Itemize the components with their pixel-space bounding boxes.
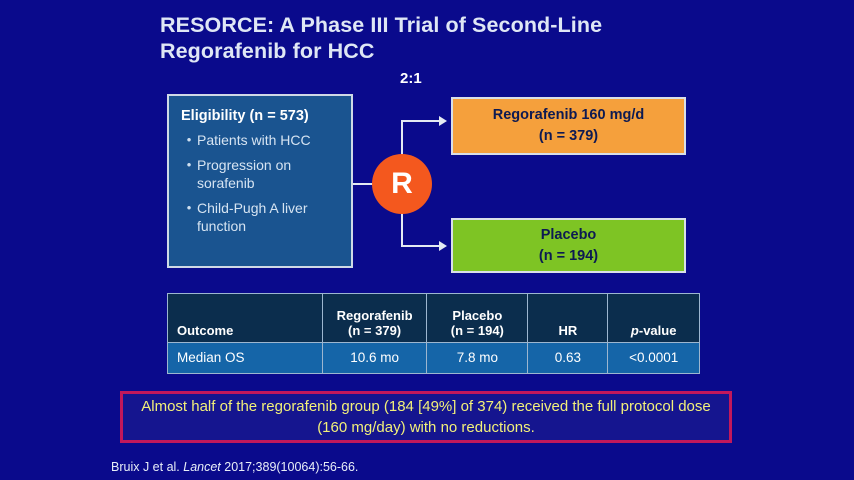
- table-header-outcome-line1: Outcome: [177, 323, 322, 338]
- bullet-icon: •: [181, 156, 197, 193]
- table-cell-placebo: 7.8 mo: [427, 343, 528, 374]
- randomization-circle: R: [372, 154, 432, 214]
- eligibility-box: Eligibility (n = 573) • Patients with HC…: [167, 94, 353, 268]
- table-header-row: Outcome Regorafenib (n = 379) Placebo (n…: [168, 294, 700, 343]
- eligibility-item: • Child-Pugh A liver function: [181, 199, 342, 236]
- table-header-outcome: Outcome: [168, 294, 323, 343]
- table-header-placebo-line2: (n = 194): [427, 323, 527, 338]
- callout-text: Almost half of the regorafenib group (18…: [133, 396, 719, 438]
- table-header-pvalue: p-value: [608, 294, 700, 343]
- placebo-arm-line2: (n = 194): [539, 246, 598, 267]
- citation-journal: Lancet: [183, 460, 221, 474]
- eligibility-item-label: Progression on sorafenib: [197, 156, 342, 193]
- table-cell-hr: 0.63: [528, 343, 608, 374]
- arrowhead-treatment-icon: [439, 116, 447, 126]
- eligibility-item: • Progression on sorafenib: [181, 156, 342, 193]
- treatment-arm-box: Regorafenib 160 mg/d (n = 379): [451, 97, 686, 155]
- table-header-pvalue-wrapper: p-value: [608, 323, 699, 338]
- citation-prefix: Bruix J et al.: [111, 460, 183, 474]
- slide-title: RESORCE: A Phase III Trial of Second-Lin…: [160, 12, 720, 64]
- placebo-arm-line1: Placebo: [541, 225, 597, 246]
- table-cell-outcome: Median OS: [168, 343, 323, 374]
- bullet-icon: •: [181, 199, 197, 236]
- table-header-hr: HR: [528, 294, 608, 343]
- table-header-regorafenib-line2: (n = 379): [323, 323, 426, 338]
- connector-line-to-placebo: [401, 245, 439, 247]
- table-header-regorafenib-line1: Regorafenib: [323, 308, 426, 323]
- eligibility-item-label: Patients with HCC: [197, 131, 342, 150]
- treatment-arm-line1: Regorafenib 160 mg/d: [493, 105, 644, 126]
- table-header-pvalue-rest: -value: [639, 323, 677, 338]
- highlight-callout-box: Almost half of the regorafenib group (18…: [120, 391, 732, 443]
- arrowhead-placebo-icon: [439, 241, 447, 251]
- results-table: Outcome Regorafenib (n = 379) Placebo (n…: [167, 293, 700, 374]
- connector-line-to-treatment: [401, 120, 439, 122]
- table-cell-regorafenib: 10.6 mo: [322, 343, 426, 374]
- citation-suffix: 2017;389(10064):56-66.: [221, 460, 359, 474]
- table-header-regorafenib: Regorafenib (n = 379): [322, 294, 426, 343]
- table-header-pvalue-italic: p: [631, 323, 639, 338]
- table-cell-pvalue: <0.0001: [608, 343, 700, 374]
- placebo-arm-box: Placebo (n = 194): [451, 218, 686, 273]
- table-header-placebo-line1: Placebo: [427, 308, 527, 323]
- slide-canvas: RESORCE: A Phase III Trial of Second-Lin…: [0, 0, 854, 480]
- table-row: Median OS 10.6 mo 7.8 mo 0.63 <0.0001: [168, 343, 700, 374]
- treatment-arm-line2: (n = 379): [539, 126, 598, 147]
- eligibility-item: • Patients with HCC: [181, 131, 342, 150]
- table-header-placebo: Placebo (n = 194): [427, 294, 528, 343]
- randomization-ratio-label: 2:1: [400, 70, 422, 87]
- citation: Bruix J et al. Lancet 2017;389(10064):56…: [111, 460, 358, 474]
- eligibility-heading: Eligibility (n = 573): [181, 108, 342, 124]
- table-header-hr-line1: HR: [528, 323, 607, 338]
- eligibility-item-label: Child-Pugh A liver function: [197, 199, 342, 236]
- bullet-icon: •: [181, 131, 197, 150]
